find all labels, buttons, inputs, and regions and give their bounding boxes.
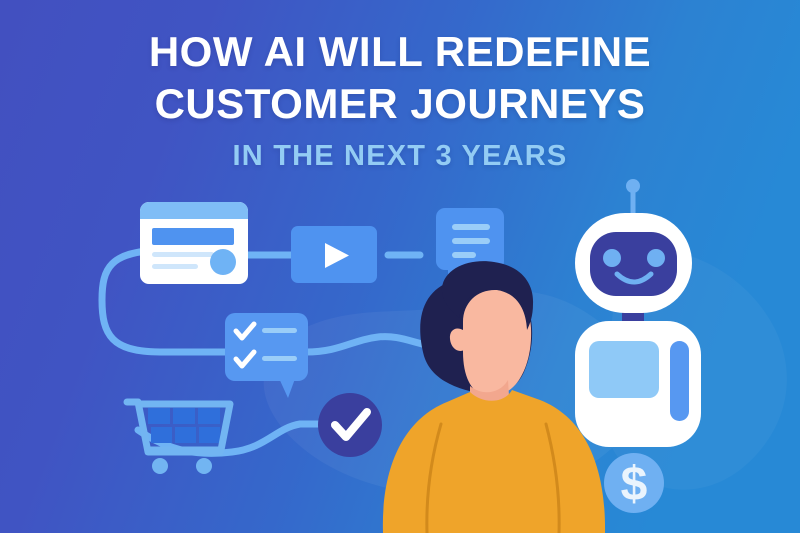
- chat-line-2: [452, 238, 490, 244]
- card-titlebar: [140, 202, 248, 219]
- browser-window-card: [140, 202, 248, 284]
- checklist-bubble-body: [225, 313, 308, 381]
- poster-canvas: HOW AI WILL REDEFINE CUSTOMER JOURNEYS I…: [0, 0, 800, 533]
- cart-wheel-left: [152, 458, 168, 474]
- checklist-bubble-tail: [278, 376, 296, 398]
- cart-cell-1-3: [198, 408, 220, 424]
- dollar-circle-badge: $: [604, 453, 664, 513]
- shopping-cart-icon: [127, 402, 230, 474]
- chat-line-1: [452, 224, 490, 230]
- cart-wheel-right: [196, 458, 212, 474]
- video-player-tile: [291, 226, 377, 283]
- chat-line-3: [452, 252, 476, 258]
- check-badge-circle: [318, 393, 382, 457]
- cart-cell-2-2: [175, 427, 196, 443]
- checklist-bubble: [225, 313, 308, 398]
- chatbot-robot: [575, 179, 701, 447]
- woman-sweater: [383, 390, 605, 533]
- cart-basket-cells: [148, 408, 220, 443]
- dollar-symbol: $: [621, 458, 648, 511]
- checklist-line-2: [262, 356, 297, 361]
- poster-subtitle: IN THE NEXT 3 YEARS: [0, 136, 800, 176]
- title-line-1: HOW AI WILL REDEFINE: [0, 26, 800, 78]
- poster-title-block: HOW AI WILL REDEFINE CUSTOMER JOURNEYS I…: [0, 26, 800, 176]
- robot-eye-right: [647, 249, 665, 267]
- robot-body-screen: [589, 341, 659, 398]
- robot-antenna-bulb: [626, 179, 640, 193]
- check-circle-badge: [318, 393, 382, 457]
- card-hero-block: [152, 228, 234, 245]
- robot-face-screen: [590, 232, 677, 296]
- robot-eye-left: [603, 249, 621, 267]
- checklist-line-1: [262, 328, 297, 333]
- card-text-line-2: [152, 264, 198, 269]
- cart-cell-1-2: [173, 408, 195, 424]
- cart-cell-2-1: [151, 427, 172, 443]
- cart-cell-1-1: [148, 408, 170, 424]
- woman-figure: [383, 261, 605, 533]
- card-avatar-dot: [210, 249, 236, 275]
- title-line-2: CUSTOMER JOURNEYS: [0, 78, 800, 130]
- robot-body-bar: [670, 341, 689, 421]
- card-text-line-1: [152, 252, 214, 257]
- cart-cell-2-3: [199, 427, 220, 443]
